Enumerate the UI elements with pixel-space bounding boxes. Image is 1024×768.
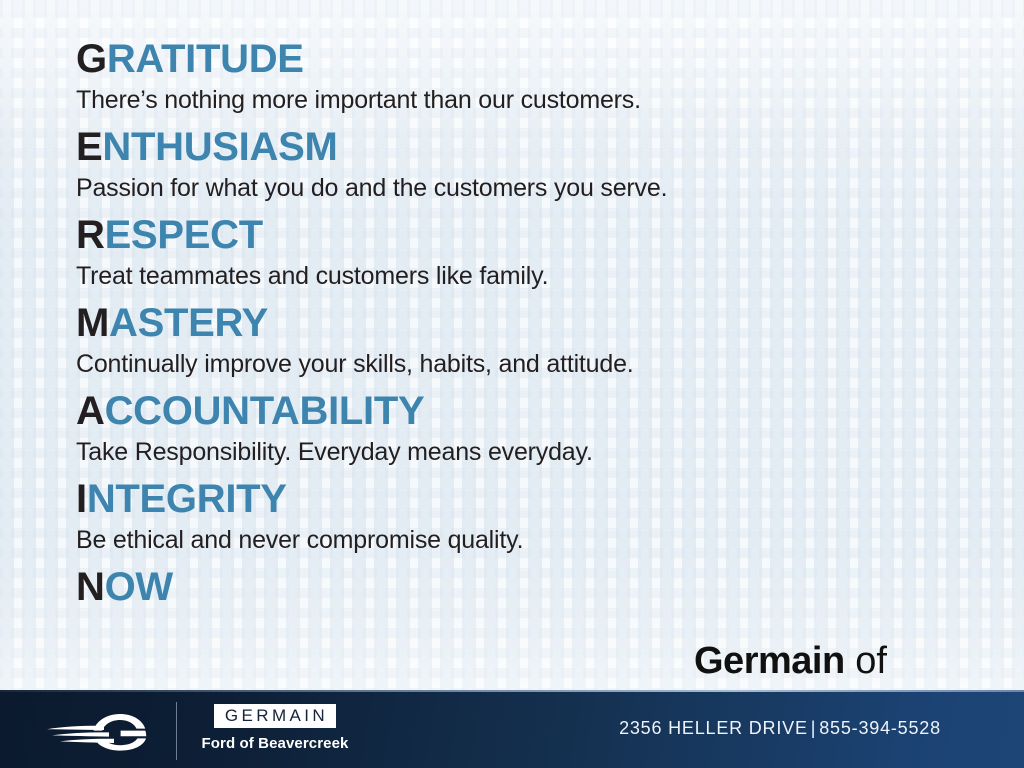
value-initial: G: [76, 37, 107, 81]
footer-store-name: Ford of Beavercreek: [200, 735, 350, 752]
value-initial: R: [76, 213, 105, 257]
value-rest: OW: [105, 565, 173, 609]
value-description-mastery: Continually improve your skills, habits,…: [76, 347, 984, 381]
value-description-accountability: Take Responsibility. Everyday means ever…: [76, 435, 984, 469]
footer-separator: |: [808, 718, 819, 738]
value-description-gratitude: There’s nothing more important than our …: [76, 83, 984, 117]
value-block-mastery: MASTERY Continually improve your skills,…: [76, 300, 984, 381]
value-description-enthusiasm: Passion for what you do and the customer…: [76, 171, 984, 205]
dealer-of-word: of: [845, 640, 887, 682]
value-description-integrity: Be ethical and never compromise quality.: [76, 523, 984, 557]
value-block-integrity: INTEGRITY Be ethical and never compromis…: [76, 476, 984, 557]
value-rest: ASTERY: [109, 301, 268, 345]
value-description-respect: Treat teammates and customers like famil…: [76, 259, 984, 293]
value-rest: CCOUNTABILITY: [105, 389, 425, 433]
value-block-accountability: ACCOUNTABILITY Take Responsibility. Ever…: [76, 388, 984, 469]
value-initial: N: [76, 565, 105, 609]
value-rest: NTHUSIASM: [102, 125, 337, 169]
footer-top-hairline: [0, 690, 1024, 692]
poster-canvas: GRATITUDE There’s nothing more important…: [0, 0, 1024, 768]
value-block-respect: RESPECT Treat teammates and customers li…: [76, 212, 984, 293]
value-word-respect: RESPECT: [76, 212, 984, 259]
value-initial: I: [76, 477, 87, 521]
value-word-now: NOW: [76, 564, 984, 611]
value-rest: NTEGRITY: [87, 477, 287, 521]
core-values-list: GRATITUDE There’s nothing more important…: [76, 36, 984, 618]
dealer-brand-name: Germain: [694, 640, 845, 682]
value-word-gratitude: GRATITUDE: [76, 36, 984, 83]
footer-brand-name: GERMAIN: [214, 704, 336, 728]
value-word-integrity: INTEGRITY: [76, 476, 984, 523]
value-word-accountability: ACCOUNTABILITY: [76, 388, 984, 435]
value-word-enthusiasm: ENTHUSIASM: [76, 124, 984, 171]
footer-address: 2356 HELLER DRIVE: [619, 718, 808, 738]
value-block-now: NOW: [76, 564, 984, 611]
value-initial: M: [76, 301, 109, 345]
value-word-mastery: MASTERY: [76, 300, 984, 347]
value-initial: E: [76, 125, 102, 169]
footer-phone[interactable]: 855-394-5528: [819, 718, 941, 738]
value-block-gratitude: GRATITUDE There’s nothing more important…: [76, 36, 984, 117]
germain-winged-g-logo-icon: [46, 712, 154, 752]
footer-divider: [176, 702, 177, 760]
value-rest: ESPECT: [105, 213, 263, 257]
value-initial: A: [76, 389, 105, 433]
footer-brand-lockup: GERMAIN Ford of Beavercreek: [200, 704, 350, 752]
footer-contact-info: 2356 HELLER DRIVE|855-394-5528: [560, 718, 1000, 739]
value-rest: RATITUDE: [107, 37, 304, 81]
value-block-enthusiasm: ENTHUSIASM Passion for what you do and t…: [76, 124, 984, 205]
